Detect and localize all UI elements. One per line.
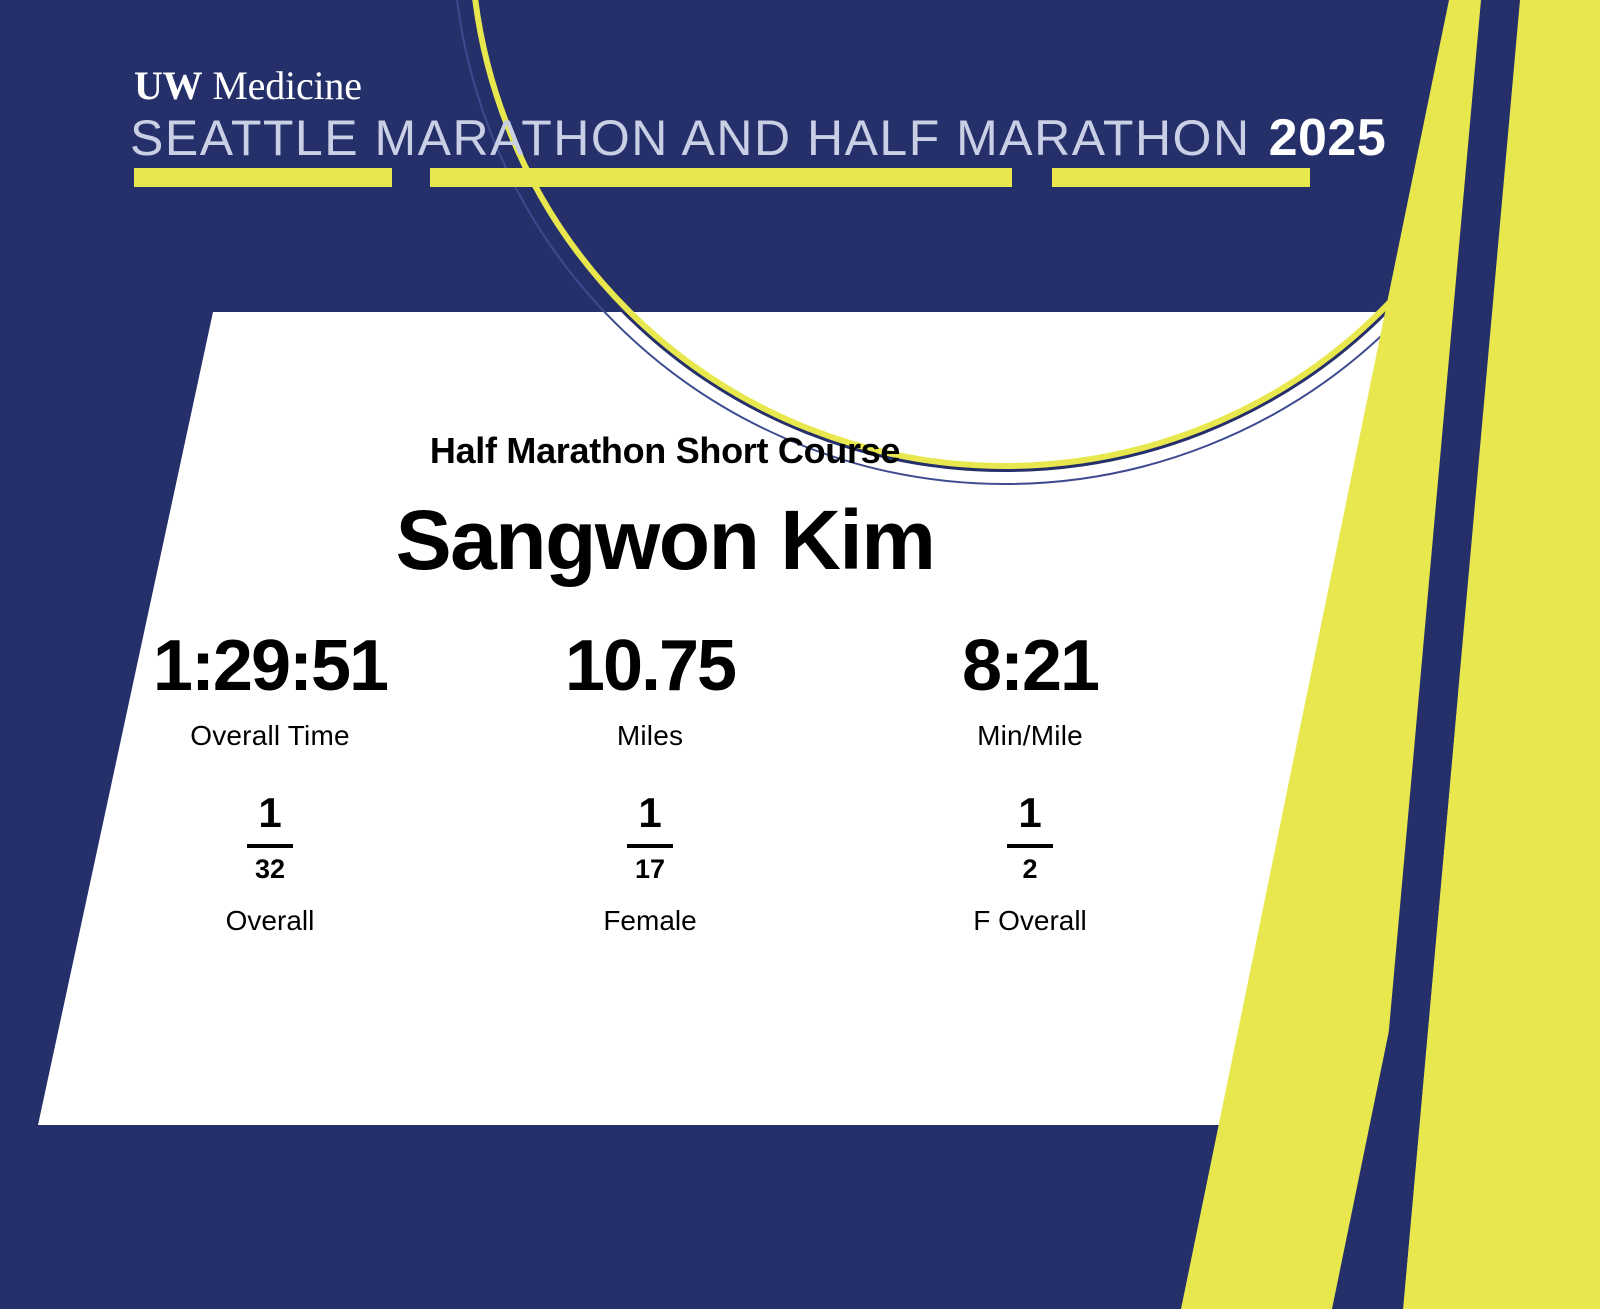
stat-column-miles: 10.75 Miles 1 17 Female [460, 630, 840, 937]
rank-fraction-female: 1 17 Female [603, 792, 696, 937]
rank-numerator: 1 [258, 792, 281, 834]
rank-numerator: 1 [638, 792, 661, 834]
rank-denominator: 17 [635, 856, 665, 883]
stat-label: Min/Mile [977, 720, 1083, 752]
stat-value: 8:21 [962, 630, 1098, 702]
rank-numerator: 1 [1018, 792, 1041, 834]
result-card-content: Half Marathon Short Course Sangwon Kim 1… [0, 312, 1330, 1125]
rank-fraction-f-overall: 1 2 F Overall [973, 792, 1087, 937]
stats-row: 1:29:51 Overall Time 1 32 Overall 10.75 … [0, 630, 1330, 937]
fraction-bar-icon [1007, 844, 1053, 848]
course-name: Half Marathon Short Course [0, 430, 1330, 472]
rank-fraction-overall: 1 32 Overall [226, 792, 315, 937]
stat-column-pace: 8:21 Min/Mile 1 2 F Overall [840, 630, 1220, 937]
stat-label: Miles [617, 720, 683, 752]
athlete-name: Sangwon Kim [0, 498, 1330, 582]
stat-label: Overall Time [190, 720, 350, 752]
stat-column-overall-time: 1:29:51 Overall Time 1 32 Overall [80, 630, 460, 937]
rank-denominator: 2 [1022, 856, 1037, 883]
rank-label: Overall [226, 905, 315, 937]
race-result-card: UW Medicine SEATTLE MARATHON AND HALF MA… [0, 0, 1600, 1309]
rank-label: Female [603, 905, 696, 937]
fraction-bar-icon [247, 844, 293, 848]
stat-value: 10.75 [565, 630, 735, 702]
rank-denominator: 32 [255, 856, 285, 883]
fraction-bar-icon [627, 844, 673, 848]
stat-value: 1:29:51 [153, 630, 387, 702]
rank-label: F Overall [973, 905, 1087, 937]
